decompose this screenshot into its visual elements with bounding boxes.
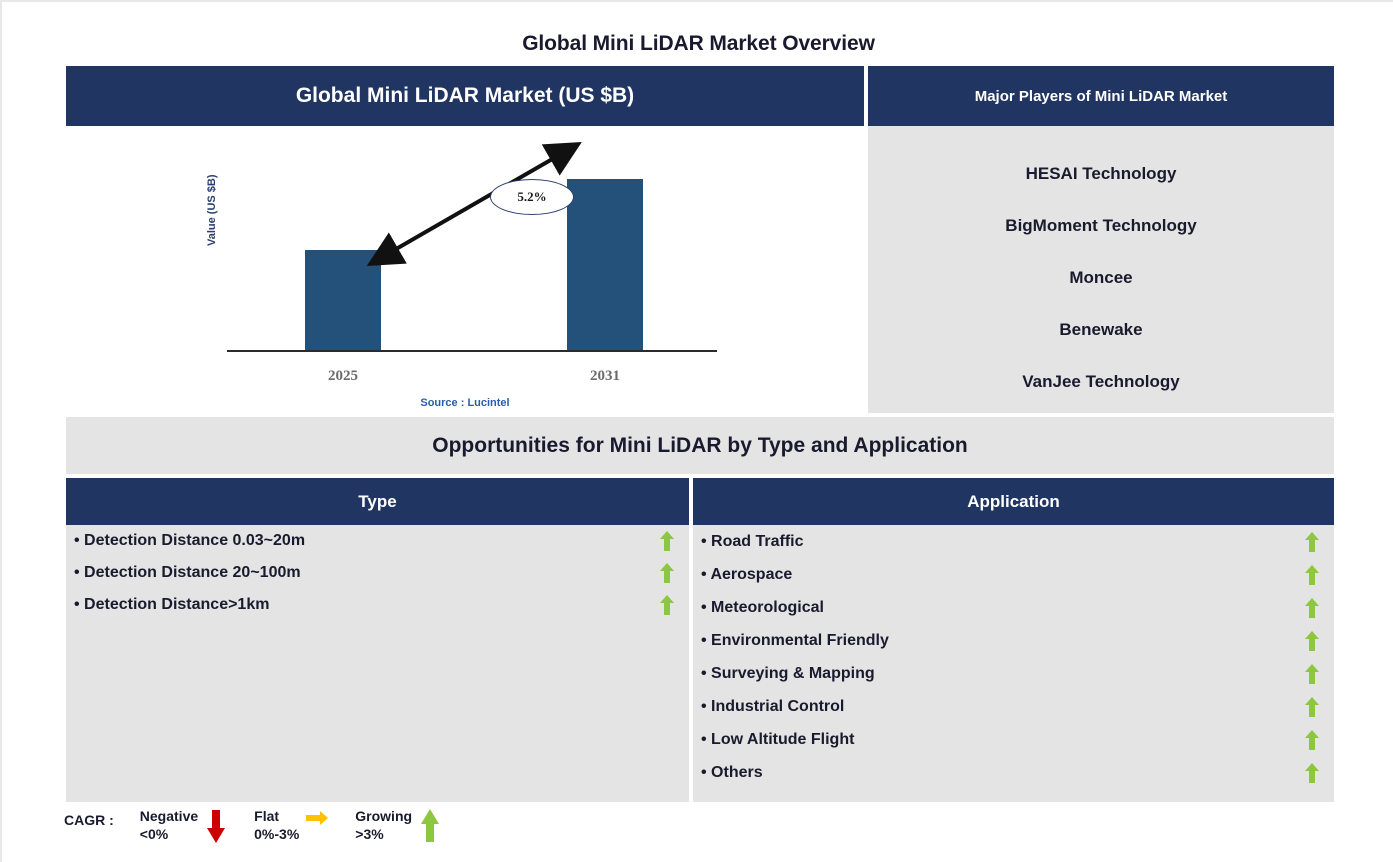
- infographic-page: Global Mini LiDAR Market Overview Global…: [0, 0, 1393, 862]
- cagr-growth-arrow-icon: [227, 126, 727, 413]
- page-title: Global Mini LiDAR Market Overview: [2, 32, 1393, 56]
- players-list: HESAI Technology BigMoment Technology Mo…: [868, 126, 1334, 413]
- application-items-list: • Road Traffic • Aerospace • Meteorologi…: [693, 525, 1334, 789]
- legend-growing-name: Growing: [355, 808, 412, 826]
- list-item: • Meteorological: [693, 591, 1334, 624]
- application-item-label: • Aerospace: [701, 566, 1304, 584]
- arrow-up-icon: [418, 808, 442, 844]
- arrow-up-icon: [1304, 531, 1320, 553]
- application-item-label: • Environmental Friendly: [701, 632, 1304, 650]
- list-item: • Others: [693, 756, 1334, 789]
- arrow-up-icon: [1304, 696, 1320, 718]
- legend-entry-flat: Flat 0%-3%: [254, 808, 329, 844]
- arrow-up-icon: [659, 594, 675, 616]
- arrow-down-icon: [204, 808, 228, 844]
- market-chart-panel: Global Mini LiDAR Market (US $B) Value (…: [66, 66, 864, 413]
- legend-negative-text: Negative <0%: [140, 808, 198, 844]
- list-item: • Detection Distance 20~100m: [66, 557, 689, 589]
- chart-y-axis-label: Value (US $B): [206, 174, 218, 246]
- chart-panel-title: Global Mini LiDAR Market (US $B): [66, 66, 864, 126]
- list-item: Moncee: [868, 252, 1334, 304]
- legend-flat-range: 0%-3%: [254, 826, 299, 844]
- list-item: Benewake: [868, 304, 1334, 356]
- list-item: • Detection Distance 0.03~20m: [66, 525, 689, 557]
- chart-plot-area: Value (US $B) 2025 2031: [66, 126, 864, 413]
- arrow-up-icon: [1304, 729, 1320, 751]
- legend-entry-negative: Negative <0%: [140, 808, 228, 844]
- application-item-label: • Industrial Control: [701, 698, 1304, 716]
- type-item-label: • Detection Distance>1km: [74, 596, 659, 614]
- chart-bars-container: 2025 2031 5.2%: [227, 126, 727, 413]
- list-item: • Aerospace: [693, 558, 1334, 591]
- major-players-panel: Major Players of Mini LiDAR Market HESAI…: [868, 66, 1334, 413]
- list-item: • Environmental Friendly: [693, 624, 1334, 657]
- cagr-value-badge: 5.2%: [490, 179, 574, 215]
- arrow-up-icon: [1304, 762, 1320, 784]
- legend-entry-growing: Growing >3%: [355, 808, 442, 844]
- legend-negative-range: <0%: [140, 826, 198, 844]
- legend-growing-text: Growing >3%: [355, 808, 412, 844]
- list-item: • Low Altitude Flight: [693, 723, 1334, 756]
- list-item: • Detection Distance>1km: [66, 589, 689, 621]
- legend-negative-name: Negative: [140, 808, 198, 826]
- arrow-up-icon: [1304, 564, 1320, 586]
- list-item: • Surveying & Mapping: [693, 657, 1334, 690]
- arrow-up-icon: [1304, 663, 1320, 685]
- legend-flat-text: Flat 0%-3%: [254, 808, 299, 844]
- type-item-label: • Detection Distance 20~100m: [74, 564, 659, 582]
- type-column-header: Type: [66, 478, 689, 525]
- application-item-label: • Surveying & Mapping: [701, 665, 1304, 683]
- cagr-legend: CAGR : Negative <0% Flat 0%-3% Growing >…: [64, 808, 442, 844]
- chart-source-note: Source : Lucintel: [66, 397, 864, 409]
- list-item: BigMoment Technology: [868, 200, 1334, 252]
- legend-flat-name: Flat: [254, 808, 299, 826]
- legend-growing-range: >3%: [355, 826, 412, 844]
- opportunities-section-title: Opportunities for Mini LiDAR by Type and…: [66, 417, 1334, 474]
- application-column-panel: Application • Road Traffic • Aerospace •…: [693, 478, 1334, 802]
- application-item-label: • Meteorological: [701, 599, 1304, 617]
- cagr-legend-label: CAGR :: [64, 808, 114, 828]
- arrow-right-icon: [305, 808, 329, 844]
- type-column-panel: Type • Detection Distance 0.03~20m • Det…: [66, 478, 689, 802]
- arrow-up-icon: [1304, 630, 1320, 652]
- application-column-header: Application: [693, 478, 1334, 525]
- list-item: • Road Traffic: [693, 525, 1334, 558]
- players-panel-title: Major Players of Mini LiDAR Market: [868, 66, 1334, 126]
- list-item: HESAI Technology: [868, 148, 1334, 200]
- list-item: VanJee Technology: [868, 356, 1334, 408]
- list-item: • Industrial Control: [693, 690, 1334, 723]
- type-items-list: • Detection Distance 0.03~20m • Detectio…: [66, 525, 689, 621]
- type-item-label: • Detection Distance 0.03~20m: [74, 532, 659, 550]
- application-item-label: • Others: [701, 764, 1304, 782]
- application-item-label: • Low Altitude Flight: [701, 731, 1304, 749]
- arrow-up-icon: [659, 530, 675, 552]
- application-item-label: • Road Traffic: [701, 533, 1304, 551]
- arrow-up-icon: [659, 562, 675, 584]
- arrow-up-icon: [1304, 597, 1320, 619]
